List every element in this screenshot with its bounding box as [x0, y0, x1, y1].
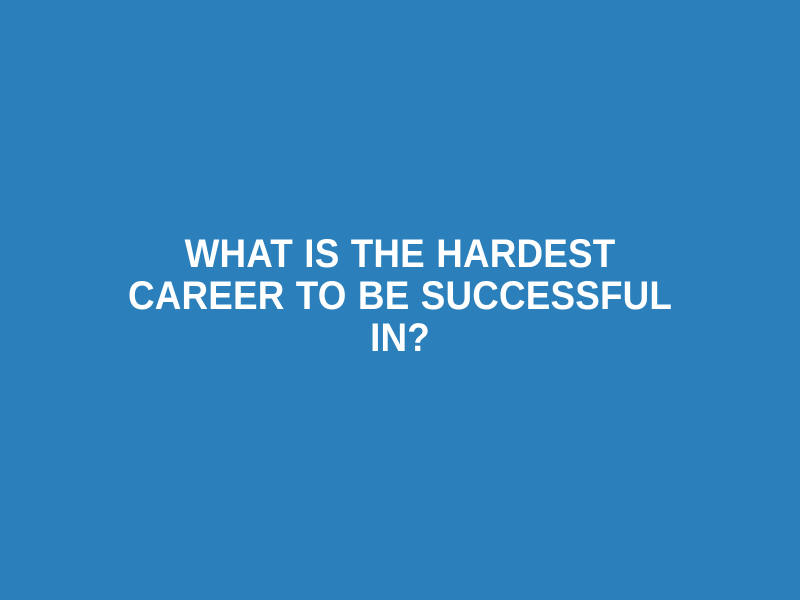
featured-image-card: WHAT IS THE HARDEST CAREER TO BE SUCCESS… — [0, 0, 800, 600]
page-title: WHAT IS THE HARDEST CAREER TO BE SUCCESS… — [106, 233, 695, 359]
headline-block: WHAT IS THE HARDEST CAREER TO BE SUCCESS… — [70, 233, 730, 359]
